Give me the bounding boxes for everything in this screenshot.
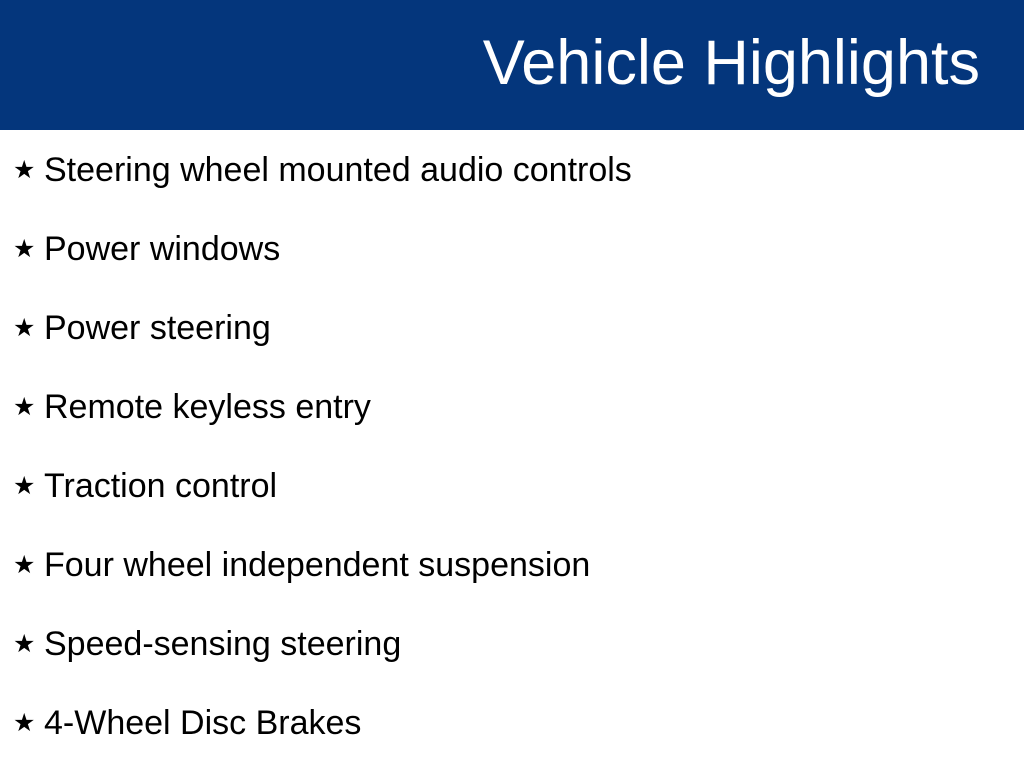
star-bullet-icon: ★: [13, 553, 32, 577]
star-bullet-icon: ★: [13, 395, 32, 419]
star-bullet-icon: ★: [13, 711, 32, 735]
star-bullet-icon: ★: [13, 632, 32, 656]
star-bullet-icon: ★: [13, 158, 32, 182]
page-title: Vehicle Highlights: [483, 30, 980, 96]
list-item-label: Power steering: [44, 309, 271, 347]
list-item-label: Speed-sensing steering: [44, 625, 401, 663]
star-bullet-icon: ★: [13, 237, 32, 261]
list-item: ★ Speed-sensing steering: [0, 604, 1024, 683]
list-item: ★ 4-Wheel Disc Brakes: [0, 683, 1024, 762]
list-item-label: Steering wheel mounted audio controls: [44, 151, 632, 189]
list-item: ★ Power steering: [0, 288, 1024, 367]
list-item-label: Remote keyless entry: [44, 388, 371, 426]
star-bullet-icon: ★: [13, 474, 32, 498]
list-item-label: Traction control: [44, 467, 277, 505]
list-item: ★ Four wheel independent suspension: [0, 525, 1024, 604]
title-banner: Vehicle Highlights: [0, 0, 1024, 130]
list-item: ★ Steering wheel mounted audio controls: [0, 130, 1024, 209]
list-item-label: Four wheel independent suspension: [44, 546, 590, 584]
list-item: ★ Remote keyless entry: [0, 367, 1024, 446]
star-bullet-icon: ★: [13, 316, 32, 340]
slide-canvas: Vehicle Highlights ★ Steering wheel moun…: [0, 0, 1024, 768]
list-item-label: 4-Wheel Disc Brakes: [44, 704, 361, 742]
vehicle-highlights-list: ★ Steering wheel mounted audio controls …: [0, 130, 1024, 768]
list-item-label: Power windows: [44, 230, 280, 268]
list-item: ★ Power windows: [0, 209, 1024, 288]
list-item: ★ Traction control: [0, 446, 1024, 525]
